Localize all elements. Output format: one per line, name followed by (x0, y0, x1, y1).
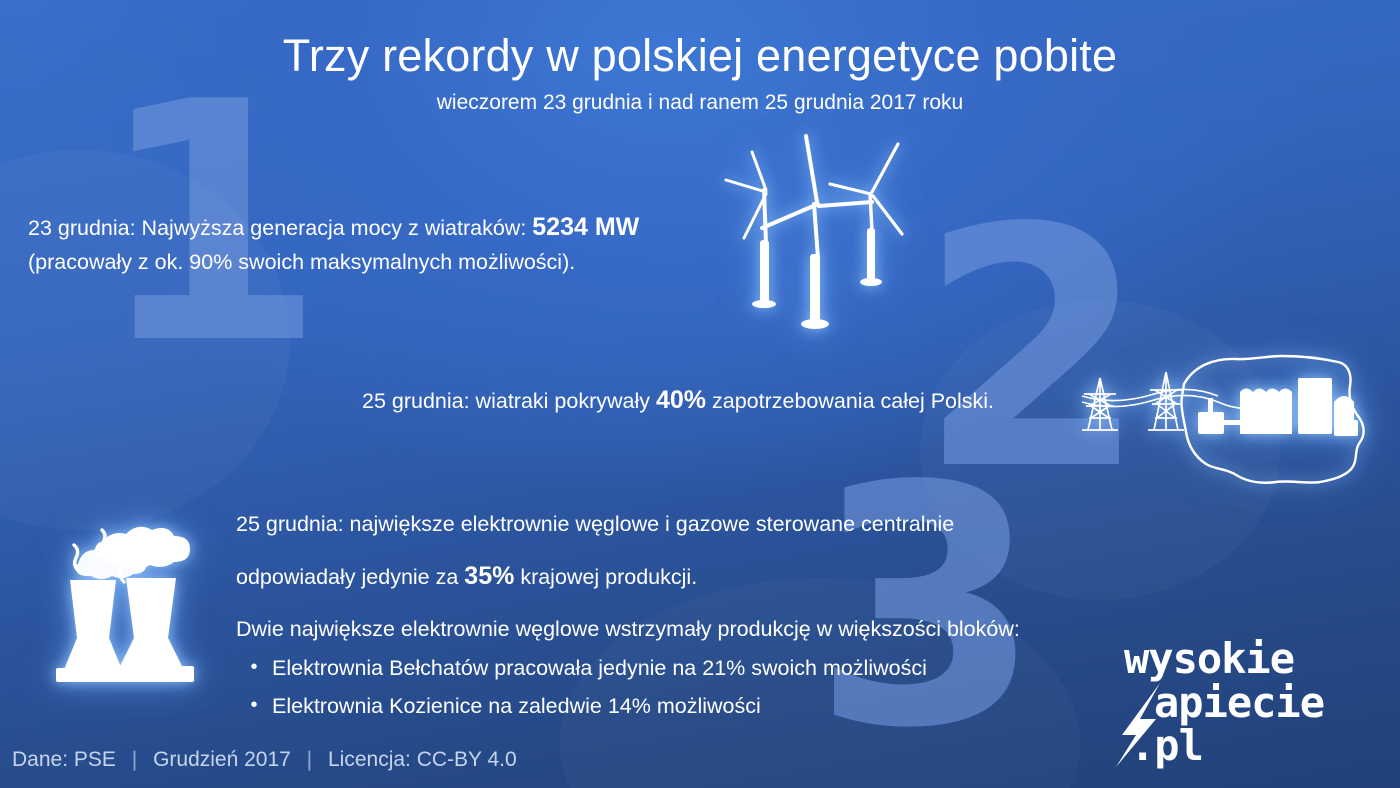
record-one-prefix: 23 grudnia: Najwyższa generacja mocy z w… (28, 216, 532, 240)
list-item: • Elektrownia Bełchatów pracowała jedyni… (236, 652, 1156, 685)
infographic-canvas: 1 2 3 Trzy rekordy w polskiej energetyce… (0, 0, 1400, 788)
footer-license: Licencja: CC-BY 4.0 (328, 748, 517, 771)
details-bullet-list: • Elektrownia Bełchatów pracowała jedyni… (236, 652, 1156, 723)
record-one-text: 23 grudnia: Najwyższa generacja mocy z w… (28, 208, 758, 279)
bullet-icon: • (236, 690, 272, 720)
record-one-line-1: 23 grudnia: Najwyższa generacja mocy z w… (28, 208, 758, 246)
poland-map-icon (1076, 350, 1394, 490)
list-item-label: Elektrownia Kozienice na zaledwie 14% mo… (272, 690, 1156, 723)
details-intro: Dwie największe elektrownie węglowe wstr… (236, 613, 1156, 646)
record-two-prefix: 25 grudnia: wiatraki pokrywały (362, 389, 656, 413)
footer-credits: Dane: PSE | Grudzień 2017 | Licencja: CC… (12, 748, 517, 772)
record-three-line-2: odpowiadały jedynie za 35% krajowej prod… (236, 557, 1136, 595)
record-two-text: 25 grudnia: wiatraki pokrywały 40% zapot… (362, 381, 1102, 419)
record-three-details: Dwie największe elektrownie węglowe wstr… (236, 613, 1156, 723)
page-title: Trzy rekordy w polskiej energetyce pobit… (0, 30, 1400, 82)
record-two-value: 40% (656, 386, 706, 414)
list-item: • Elektrownia Kozienice na zaledwie 14% … (236, 690, 1156, 723)
power-plant-icon (44, 512, 230, 690)
record-one-value: 5234 MW (532, 213, 639, 241)
record-three-suffix: krajowej produkcji. (514, 565, 697, 589)
record-three-prefix: odpowiadały jedynie za (236, 565, 464, 589)
lightning-bolt-icon (1116, 683, 1168, 767)
record-three-value: 35% (464, 562, 514, 590)
footer-source: Dane: PSE (12, 748, 116, 771)
footer-date: Grudzień 2017 (153, 748, 291, 771)
logo-line-1: wysokie (1124, 639, 1374, 679)
footer-separator: | (122, 748, 147, 771)
footer-separator: | (297, 748, 322, 771)
list-item-label: Elektrownia Bełchatów pracowała jedynie … (272, 652, 1156, 685)
page-subtitle: wieczorem 23 grudnia i nad ranem 25 grud… (0, 91, 1400, 115)
record-two-suffix: zapotrzebowania całej Polski. (706, 389, 994, 413)
logo-wysokie-napiecie[interactable]: wysokie apiecie .pl (1124, 639, 1374, 766)
bullet-icon: • (236, 652, 272, 682)
wind-turbines-icon (722, 134, 912, 334)
record-one-line-2: (pracowały z ok. 90% swoich maksymalnych… (28, 246, 758, 279)
record-three-line-1: 25 grudnia: największe elektrownie węglo… (236, 508, 1136, 541)
record-three-text: 25 grudnia: największe elektrownie węglo… (236, 508, 1136, 611)
